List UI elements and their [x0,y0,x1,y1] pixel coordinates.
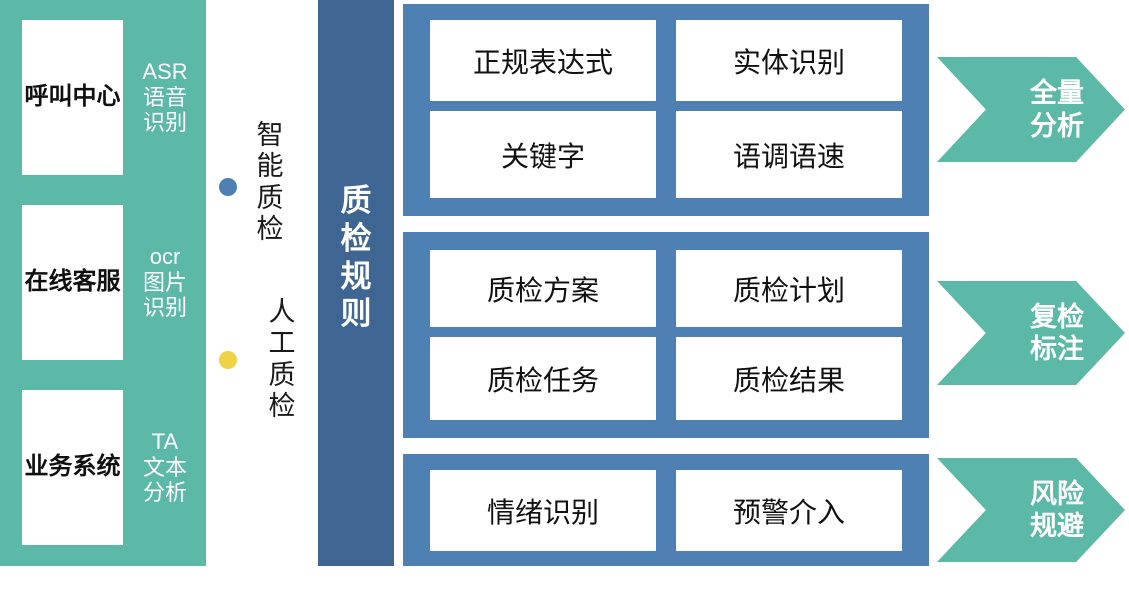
feature-card-entity-recognition[interactable]: 实体识别 [676,20,902,101]
feature-card-label: 实体识别 [733,41,845,81]
feature-card-regex[interactable]: 正规表达式 [430,20,656,101]
feature-card-label: 质检结果 [733,359,845,399]
feature-card-inspection-plan-scheme[interactable]: 质检方案 [430,250,656,327]
feature-card-inspection-plan[interactable]: 质检计划 [676,250,902,327]
quality-rules-label: 质检规则 [318,182,394,333]
mode-label-intelligent[interactable]: 智能质检 [253,120,287,245]
feature-card-early-warning[interactable]: 预警介入 [676,470,902,551]
bullet-dot-intelligent-icon [219,178,237,196]
feature-card-label: 正规表达式 [473,41,613,81]
outcome-arrow-label: 复检标注 [937,301,1125,366]
feature-card-label: 质检方案 [487,269,599,309]
outcome-arrow-recheck-annotation[interactable]: 复检标注 [937,281,1125,385]
outcome-arrow-label: 风险规避 [937,478,1125,543]
inspection-mode-column: 智能质检 人工质检 [0,0,318,566]
outcome-arrow-label: 全量分析 [937,77,1125,142]
outcome-arrow-risk-avoidance[interactable]: 风险规避 [937,458,1125,562]
feature-card-label: 语调语速 [733,135,845,175]
feature-card-inspection-task[interactable]: 质检任务 [430,337,656,420]
feature-card-label: 情绪识别 [487,491,599,531]
feature-card-inspection-result[interactable]: 质检结果 [676,337,902,420]
rule-engine-panel: 正规表达式 实体识别 关键字 语调语速 [403,4,929,216]
feature-card-label: 预警介入 [733,491,845,531]
quality-rules-bar[interactable]: 质检规则 [318,0,394,566]
feature-card-label: 质检任务 [487,359,599,399]
feature-card-emotion-recognition[interactable]: 情绪识别 [430,470,656,551]
risk-panel: 情绪识别 预警介入 [403,454,929,566]
feature-card-label: 关键字 [501,135,585,175]
feature-card-keyword[interactable]: 关键字 [430,111,656,198]
diagram-canvas: 呼叫中心 ASR语音识别 在线客服 ocr图片识别 业务系统 TA文本分析 智能… [0,0,1129,603]
inspection-workflow-panel: 质检方案 质检计划 质检任务 质检结果 [403,232,929,438]
outcome-arrow-full-analysis[interactable]: 全量分析 [937,57,1125,162]
feature-card-label: 质检计划 [733,269,845,309]
bullet-dot-manual-icon [219,351,237,369]
feature-card-tone-speed[interactable]: 语调语速 [676,111,902,198]
mode-label-manual[interactable]: 人工质检 [265,297,299,422]
